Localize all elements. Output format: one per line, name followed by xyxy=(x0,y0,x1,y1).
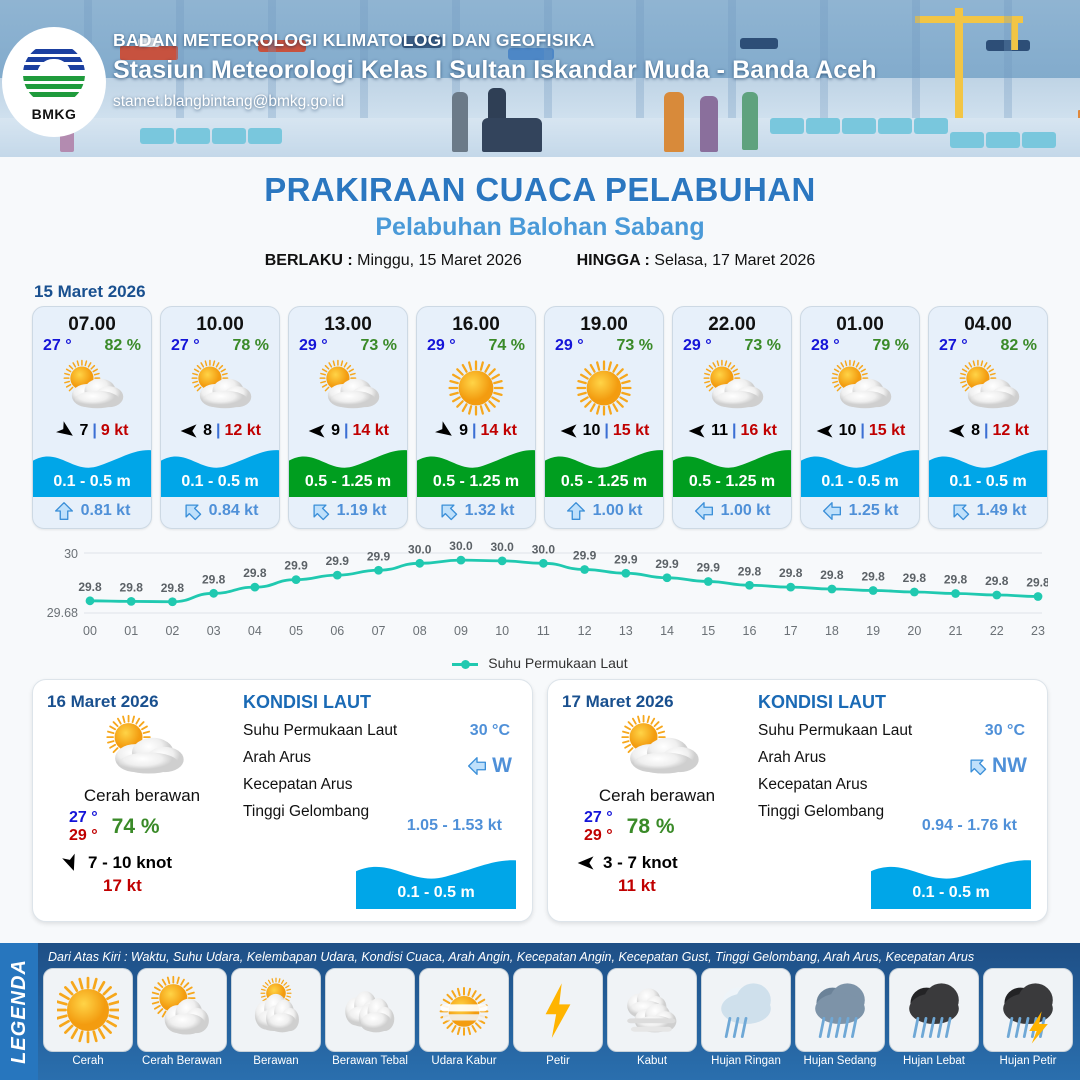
card-current: 0.84 kt xyxy=(161,497,279,528)
legend-item-label: Hujan Sedang xyxy=(804,1055,877,1068)
card-time: 01.00 xyxy=(801,307,919,337)
card-temp-hum: 29 ° 73 % xyxy=(289,337,407,357)
card-wave: 0.5 - 1.25 m xyxy=(673,445,791,497)
current-direction-value: NW xyxy=(992,754,1027,778)
legend-item: Hujan Petir xyxy=(984,968,1072,1068)
card-separator: | xyxy=(472,422,476,440)
svg-text:29.8: 29.8 xyxy=(903,571,927,585)
svg-text:06: 06 xyxy=(330,624,344,638)
card-current: 0.81 kt xyxy=(33,497,151,528)
card-gust: 12 kt xyxy=(992,422,1028,440)
card-wind: 7 | 9 kt xyxy=(33,419,151,445)
daily-sea-conditions: KONDISI LAUT Suhu Permukaan Laut 30 °C A… xyxy=(752,692,1033,911)
current-speed-label: Kecepatan Arus xyxy=(243,776,518,794)
validity-period: BERLAKU : Minggu, 15 Maret 2026 HINGGA :… xyxy=(0,252,1080,270)
svg-text:23: 23 xyxy=(1031,624,1045,638)
card-gust: 12 kt xyxy=(224,422,260,440)
daily-temp-max: 29 ° xyxy=(584,827,613,845)
wind-direction-icon xyxy=(559,421,579,441)
card-current-speed: 1.32 kt xyxy=(465,502,515,520)
legend-item: Hujan Lebat xyxy=(890,968,978,1068)
chart-legend-swatch xyxy=(452,663,478,666)
legend-body: Dari Atas Kiri : Waktu, Suhu Udara, Kele… xyxy=(38,943,1080,1080)
legend-side-title: LEGENDA xyxy=(8,959,31,1064)
current-direction-value-group: NW xyxy=(967,754,1027,778)
legend-item-label: Hujan Petir xyxy=(1000,1055,1057,1068)
valid-from-value: Minggu, 15 Maret 2026 xyxy=(357,252,522,269)
svg-text:30.0: 30.0 xyxy=(532,542,556,556)
daily-wind: 7 - 10 knot xyxy=(47,853,237,873)
daily-forecast-card: 16 Maret 2026 Cerah berawan 27 ° 29 ° 74… xyxy=(32,679,533,922)
card-wind-speed: 10 xyxy=(583,422,601,440)
card-wind: 9 | 14 kt xyxy=(417,419,535,445)
legend-side-bar: LEGENDA xyxy=(0,943,38,1080)
card-wave: 0.5 - 1.25 m xyxy=(417,445,535,497)
card-time: 16.00 xyxy=(417,307,535,337)
sun-cloud-icon xyxy=(673,357,791,419)
daily-gust: 17 kt xyxy=(47,876,237,896)
card-current: 1.32 kt xyxy=(417,497,535,528)
card-temperature: 29 ° xyxy=(555,337,584,355)
wind-direction-icon xyxy=(947,421,967,441)
card-wind-speed: 11 xyxy=(711,422,728,440)
current-direction-icon xyxy=(438,501,458,521)
daily-date: 17 Maret 2026 xyxy=(562,692,752,712)
svg-text:29.8: 29.8 xyxy=(861,570,885,584)
card-time: 13.00 xyxy=(289,307,407,337)
card-wind: 10 | 15 kt xyxy=(545,419,663,445)
sun-cloud-icon xyxy=(137,968,227,1052)
sun-icon xyxy=(417,357,535,419)
card-current: 1.00 kt xyxy=(673,497,791,528)
daily-humidity: 78 % xyxy=(627,815,675,839)
card-wave-height: 0.5 - 1.25 m xyxy=(289,473,407,491)
valid-until-value: Selasa, 17 Maret 2026 xyxy=(654,252,815,269)
daily-humidity: 74 % xyxy=(112,815,160,839)
light-rain-icon xyxy=(701,968,791,1052)
sea-conditions-heading: KONDISI LAUT xyxy=(758,692,1033,713)
hourly-card: 04.00 27 ° 82 % 8 | 12 kt 0.1 - 0.5 m 1.… xyxy=(928,306,1048,529)
valid-from-label: BERLAKU : xyxy=(265,252,353,269)
card-wind-speed: 8 xyxy=(971,422,980,440)
card-temperature: 29 ° xyxy=(427,337,456,355)
card-separator: | xyxy=(344,422,348,440)
current-speed-label: Kecepatan Arus xyxy=(758,776,1033,794)
card-wave-height: 0.5 - 1.25 m xyxy=(545,473,663,491)
card-humidity: 82 % xyxy=(105,337,141,355)
svg-text:05: 05 xyxy=(289,624,303,638)
current-speed-value: 0.94 - 1.76 kt xyxy=(922,817,1017,835)
svg-text:29.8: 29.8 xyxy=(78,580,102,594)
hourly-card: 07.00 27 ° 82 % 7 | 9 kt 0.1 - 0.5 m 0.8… xyxy=(32,306,152,529)
daily-left: 16 Maret 2026 Cerah berawan 27 ° 29 ° 74… xyxy=(47,692,237,911)
valid-until-label: HINGGA : xyxy=(577,252,650,269)
card-wind-speed: 9 xyxy=(331,422,340,440)
bmkg-logo: BMKG xyxy=(2,27,106,137)
card-wave: 0.5 - 1.25 m xyxy=(545,445,663,497)
svg-text:16: 16 xyxy=(743,624,757,638)
daily-wind: 3 - 7 knot xyxy=(562,853,752,873)
hourly-card: 10.00 27 ° 78 % 8 | 12 kt 0.1 - 0.5 m 0.… xyxy=(160,306,280,529)
hourly-card: 01.00 28 ° 79 % 10 | 15 kt 0.1 - 0.5 m 1… xyxy=(800,306,920,529)
legend-note: Dari Atas Kiri : Waktu, Suhu Udara, Kele… xyxy=(44,947,1072,968)
current-direction-icon xyxy=(950,501,970,521)
station-name: Stasiun Meteorologi Kelas I Sultan Iskan… xyxy=(113,56,877,85)
daily-sea-conditions: KONDISI LAUT Suhu Permukaan Laut 30 °C A… xyxy=(237,692,518,911)
page-subtitle: Pelabuhan Balohan Sabang xyxy=(0,213,1080,242)
card-time: 19.00 xyxy=(545,307,663,337)
wind-direction-icon xyxy=(179,421,199,441)
svg-text:10: 10 xyxy=(495,624,509,638)
hourly-card: 16.00 29 ° 74 % 9 | 14 kt 0.5 - 1.25 m 1… xyxy=(416,306,536,529)
card-separator: | xyxy=(92,422,96,440)
svg-text:30.0: 30.0 xyxy=(449,541,473,553)
legend-item: Kabut xyxy=(608,968,696,1068)
daily-temp-min: 27 ° xyxy=(584,809,613,827)
current-direction-icon xyxy=(310,501,330,521)
card-wave-height: 0.1 - 0.5 m xyxy=(33,473,151,491)
daily-forecast-card: 17 Maret 2026 Cerah berawan 27 ° 29 ° 78… xyxy=(547,679,1048,922)
card-humidity: 79 % xyxy=(873,337,909,355)
daily-date: 16 Maret 2026 xyxy=(47,692,237,712)
svg-text:11: 11 xyxy=(537,624,550,638)
svg-text:29.68: 29.68 xyxy=(47,606,78,620)
card-wave: 0.1 - 0.5 m xyxy=(33,445,151,497)
card-temperature: 27 ° xyxy=(43,337,72,355)
clouds-icon xyxy=(325,968,415,1052)
sun-cloud-icon xyxy=(801,357,919,419)
sea-conditions-heading: KONDISI LAUT xyxy=(243,692,518,713)
svg-text:08: 08 xyxy=(413,624,427,638)
card-temp-hum: 27 ° 78 % xyxy=(161,337,279,357)
card-current-speed: 0.84 kt xyxy=(209,502,259,520)
svg-text:07: 07 xyxy=(372,624,386,638)
svg-text:01: 01 xyxy=(124,624,138,638)
legend-item-label: Cerah Berawan xyxy=(142,1055,222,1068)
card-wave-height: 0.1 - 0.5 m xyxy=(801,473,919,491)
svg-text:29.8: 29.8 xyxy=(202,572,226,586)
fog-icon xyxy=(607,968,697,1052)
lightning-icon xyxy=(513,968,603,1052)
card-wave-height: 0.5 - 1.25 m xyxy=(673,473,791,491)
card-temp-hum: 29 ° 73 % xyxy=(545,337,663,357)
card-humidity: 73 % xyxy=(617,337,653,355)
card-temperature: 29 ° xyxy=(299,337,328,355)
card-current: 1.19 kt xyxy=(289,497,407,528)
page-header: BMKG BADAN METEOROLOGI KLIMATOLOGI DAN G… xyxy=(0,0,1080,157)
current-direction-icon xyxy=(967,756,987,776)
card-temperature: 27 ° xyxy=(939,337,968,355)
current-direction-icon xyxy=(182,501,202,521)
svg-text:20: 20 xyxy=(907,624,921,638)
daily-temp-hum: 27 ° 29 ° 74 % xyxy=(47,809,237,846)
card-time: 22.00 xyxy=(673,307,791,337)
current-direction-icon xyxy=(694,501,714,521)
legend-item-label: Petir xyxy=(546,1055,570,1068)
card-gust: 14 kt xyxy=(480,422,516,440)
legend-item-label: Berawan xyxy=(253,1055,298,1068)
card-wave: 0.5 - 1.25 m xyxy=(289,445,407,497)
sun-icon xyxy=(43,968,133,1052)
svg-text:09: 09 xyxy=(454,624,468,638)
svg-text:29.9: 29.9 xyxy=(367,549,391,563)
svg-text:29.8: 29.8 xyxy=(820,568,844,582)
card-current: 1.49 kt xyxy=(929,497,1047,528)
current-direction-icon xyxy=(54,501,74,521)
svg-text:18: 18 xyxy=(825,624,839,638)
legend-item: Petir xyxy=(514,968,602,1068)
daily-wave-height: 0.1 - 0.5 m xyxy=(871,884,1031,902)
card-humidity: 73 % xyxy=(361,337,397,355)
card-wave: 0.1 - 0.5 m xyxy=(801,445,919,497)
daily-wind-range: 3 - 7 knot xyxy=(603,853,678,873)
legend-item-label: Cerah xyxy=(72,1055,103,1068)
svg-text:02: 02 xyxy=(165,624,179,638)
card-wind: 10 | 15 kt xyxy=(801,419,919,445)
card-separator: | xyxy=(984,422,988,440)
svg-text:21: 21 xyxy=(949,624,963,638)
station-email: stamet.blangbintang@bmkg.go.id xyxy=(113,93,877,111)
card-separator: | xyxy=(732,422,736,440)
hourly-card: 22.00 29 ° 73 % 11 | 16 kt 0.5 - 1.25 m … xyxy=(672,306,792,529)
legend-item: Hujan Sedang xyxy=(796,968,884,1068)
legend-item-label: Hujan Lebat xyxy=(903,1055,965,1068)
card-wind: 9 | 14 kt xyxy=(289,419,407,445)
card-time: 04.00 xyxy=(929,307,1047,337)
card-gust: 15 kt xyxy=(869,422,905,440)
legend-item: Cerah Berawan xyxy=(138,968,226,1068)
sun-cloud-icon xyxy=(929,357,1047,419)
card-wind-speed: 9 xyxy=(459,422,468,440)
card-wave-height: 0.1 - 0.5 m xyxy=(161,473,279,491)
svg-text:29.9: 29.9 xyxy=(697,561,721,575)
card-wind-speed: 8 xyxy=(203,422,212,440)
sun-cloud-icon xyxy=(33,357,151,419)
hourly-date-label: 15 Maret 2026 xyxy=(34,282,1080,302)
wind-direction-icon xyxy=(435,421,455,441)
sst-value: 30 °C xyxy=(470,722,510,740)
card-humidity: 82 % xyxy=(1001,337,1037,355)
card-wave: 0.1 - 0.5 m xyxy=(161,445,279,497)
card-separator: | xyxy=(216,422,220,440)
card-current-speed: 1.25 kt xyxy=(849,502,899,520)
hourly-card: 19.00 29 ° 73 % 10 | 15 kt 0.5 - 1.25 m … xyxy=(544,306,664,529)
bmkg-logo-mark xyxy=(23,43,85,105)
legend-item: Udara Kabur xyxy=(420,968,508,1068)
svg-text:29.8: 29.8 xyxy=(243,566,267,580)
svg-text:29.9: 29.9 xyxy=(573,549,597,563)
svg-text:29.9: 29.9 xyxy=(614,552,638,566)
card-wind: 11 | 16 kt xyxy=(673,419,791,445)
daily-wind-range: 7 - 10 knot xyxy=(88,853,172,873)
card-current: 1.25 kt xyxy=(801,497,919,528)
chart-legend: Suhu Permukaan Laut xyxy=(0,655,1080,671)
card-temp-hum: 28 ° 79 % xyxy=(801,337,919,357)
svg-text:29.8: 29.8 xyxy=(985,574,1009,588)
agency-name: BADAN METEOROLOGI KLIMATOLOGI DAN GEOFIS… xyxy=(113,30,877,51)
svg-text:29.8: 29.8 xyxy=(120,580,144,594)
legend-item-label: Hujan Ringan xyxy=(711,1055,781,1068)
daily-temp-min: 27 ° xyxy=(69,809,98,827)
daily-gust: 11 kt xyxy=(562,876,752,896)
legend-items: Cerah Cerah Berawan Berawan Berawan Teba… xyxy=(44,968,1072,1068)
daily-wave-box: 0.1 - 0.5 m xyxy=(871,855,1031,909)
daily-temp-hum: 27 ° 29 ° 78 % xyxy=(562,809,752,846)
current-direction-icon xyxy=(566,501,586,521)
svg-text:29.9: 29.9 xyxy=(326,554,350,568)
svg-text:30: 30 xyxy=(64,547,78,561)
svg-text:29.8: 29.8 xyxy=(1026,576,1048,590)
card-wave: 0.1 - 0.5 m xyxy=(929,445,1047,497)
cloud-sun-small-icon xyxy=(231,968,321,1052)
svg-text:19: 19 xyxy=(866,624,880,638)
card-current-speed: 0.81 kt xyxy=(81,502,131,520)
card-wind-speed: 7 xyxy=(80,422,89,440)
card-gust: 9 kt xyxy=(101,422,129,440)
daily-wave-height: 0.1 - 0.5 m xyxy=(356,884,516,902)
thunderstorm-icon xyxy=(983,968,1073,1052)
svg-text:30.0: 30.0 xyxy=(490,541,514,554)
card-temp-hum: 29 ° 73 % xyxy=(673,337,791,357)
card-temperature: 28 ° xyxy=(811,337,840,355)
svg-text:29.9: 29.9 xyxy=(655,557,679,571)
page-title: PRAKIRAAN CUACA PELABUHAN xyxy=(0,171,1080,209)
card-gust: 16 kt xyxy=(740,422,776,440)
svg-text:15: 15 xyxy=(701,624,715,638)
daily-temps: 27 ° 29 ° xyxy=(69,809,98,846)
sun-cloud-icon xyxy=(562,714,752,784)
daily-temps: 27 ° 29 ° xyxy=(584,809,613,846)
card-gust: 14 kt xyxy=(352,422,388,440)
wind-direction-icon xyxy=(61,853,81,873)
wind-direction-icon xyxy=(307,421,327,441)
svg-text:29.8: 29.8 xyxy=(779,566,803,580)
legend-item: Berawan xyxy=(232,968,320,1068)
svg-text:29.8: 29.8 xyxy=(944,573,968,587)
card-current: 1.00 kt xyxy=(545,497,663,528)
svg-text:00: 00 xyxy=(83,624,97,638)
sst-value: 30 °C xyxy=(985,722,1025,740)
card-temp-hum: 27 ° 82 % xyxy=(929,337,1047,357)
daily-left: 17 Maret 2026 Cerah berawan 27 ° 29 ° 78… xyxy=(562,692,752,911)
svg-text:29.9: 29.9 xyxy=(284,559,308,573)
svg-text:30.0: 30.0 xyxy=(408,542,432,556)
card-separator: | xyxy=(860,422,864,440)
hourly-forecast-row: 07.00 27 ° 82 % 7 | 9 kt 0.1 - 0.5 m 0.8… xyxy=(0,306,1080,529)
daily-condition: Cerah berawan xyxy=(47,786,237,806)
svg-text:22: 22 xyxy=(990,624,1004,638)
card-current-speed: 1.49 kt xyxy=(977,502,1027,520)
card-humidity: 74 % xyxy=(489,337,525,355)
current-speed-value: 1.05 - 1.53 kt xyxy=(407,817,502,835)
wind-direction-icon xyxy=(56,421,76,441)
current-direction-icon xyxy=(467,756,487,776)
legend-item-label: Udara Kabur xyxy=(431,1055,496,1068)
daily-temp-max: 29 ° xyxy=(69,827,98,845)
sun-icon xyxy=(545,357,663,419)
svg-text:29.8: 29.8 xyxy=(161,581,185,595)
haze-icon xyxy=(419,968,509,1052)
legend-item-label: Berawan Tebal xyxy=(332,1055,408,1068)
legend-item-label: Kabut xyxy=(637,1055,667,1068)
card-temperature: 27 ° xyxy=(171,337,200,355)
current-direction-icon xyxy=(822,501,842,521)
card-wind: 8 | 12 kt xyxy=(161,419,279,445)
card-humidity: 78 % xyxy=(233,337,269,355)
card-current-speed: 1.00 kt xyxy=(721,502,771,520)
legend-item: Berawan Tebal xyxy=(326,968,414,1068)
sst-chart-svg: 3029.6829.80029.80129.80229.80329.80429.… xyxy=(32,541,1048,651)
title-block: PRAKIRAAN CUACA PELABUHAN Pelabuhan Balo… xyxy=(0,171,1080,270)
svg-text:14: 14 xyxy=(660,624,674,638)
svg-text:12: 12 xyxy=(578,624,592,638)
sun-cloud-icon xyxy=(161,357,279,419)
sst-chart: 3029.6829.80029.80129.80229.80329.80429.… xyxy=(32,541,1048,651)
card-wave-height: 0.1 - 0.5 m xyxy=(929,473,1047,491)
wind-direction-icon xyxy=(687,421,707,441)
wind-direction-icon xyxy=(576,853,596,873)
bmkg-logo-text: BMKG xyxy=(32,106,77,122)
daily-forecast-row: 16 Maret 2026 Cerah berawan 27 ° 29 ° 74… xyxy=(0,679,1080,922)
legend-item: Cerah xyxy=(44,968,132,1068)
legend-strip: LEGENDA Dari Atas Kiri : Waktu, Suhu Uda… xyxy=(0,943,1080,1080)
svg-text:03: 03 xyxy=(207,624,221,638)
card-current-speed: 1.00 kt xyxy=(593,502,643,520)
card-wave-height: 0.5 - 1.25 m xyxy=(417,473,535,491)
card-separator: | xyxy=(604,422,608,440)
svg-text:17: 17 xyxy=(784,624,798,638)
card-wind: 8 | 12 kt xyxy=(929,419,1047,445)
current-direction-value: W xyxy=(492,754,512,778)
card-temp-hum: 27 ° 82 % xyxy=(33,337,151,357)
card-temp-hum: 29 ° 74 % xyxy=(417,337,535,357)
daily-condition: Cerah berawan xyxy=(562,786,752,806)
card-current-speed: 1.19 kt xyxy=(337,502,387,520)
svg-text:29.8: 29.8 xyxy=(738,564,762,578)
header-text-block: BADAN METEOROLOGI KLIMATOLOGI DAN GEOFIS… xyxy=(113,30,877,111)
svg-text:04: 04 xyxy=(248,624,262,638)
legend-item: Hujan Ringan xyxy=(702,968,790,1068)
wind-direction-icon xyxy=(815,421,835,441)
heavy-rain-icon xyxy=(889,968,979,1052)
card-humidity: 73 % xyxy=(745,337,781,355)
sun-cloud-icon xyxy=(47,714,237,784)
card-time: 10.00 xyxy=(161,307,279,337)
daily-wave-box: 0.1 - 0.5 m xyxy=(356,855,516,909)
hourly-card: 13.00 29 ° 73 % 9 | 14 kt 0.5 - 1.25 m 1… xyxy=(288,306,408,529)
card-time: 07.00 xyxy=(33,307,151,337)
moderate-rain-icon xyxy=(795,968,885,1052)
card-temperature: 29 ° xyxy=(683,337,712,355)
card-gust: 15 kt xyxy=(613,422,649,440)
sun-cloud-icon xyxy=(289,357,407,419)
svg-text:13: 13 xyxy=(619,624,633,638)
card-wind-speed: 10 xyxy=(839,422,857,440)
current-direction-value-group: W xyxy=(467,754,512,778)
chart-legend-label: Suhu Permukaan Laut xyxy=(488,655,627,671)
